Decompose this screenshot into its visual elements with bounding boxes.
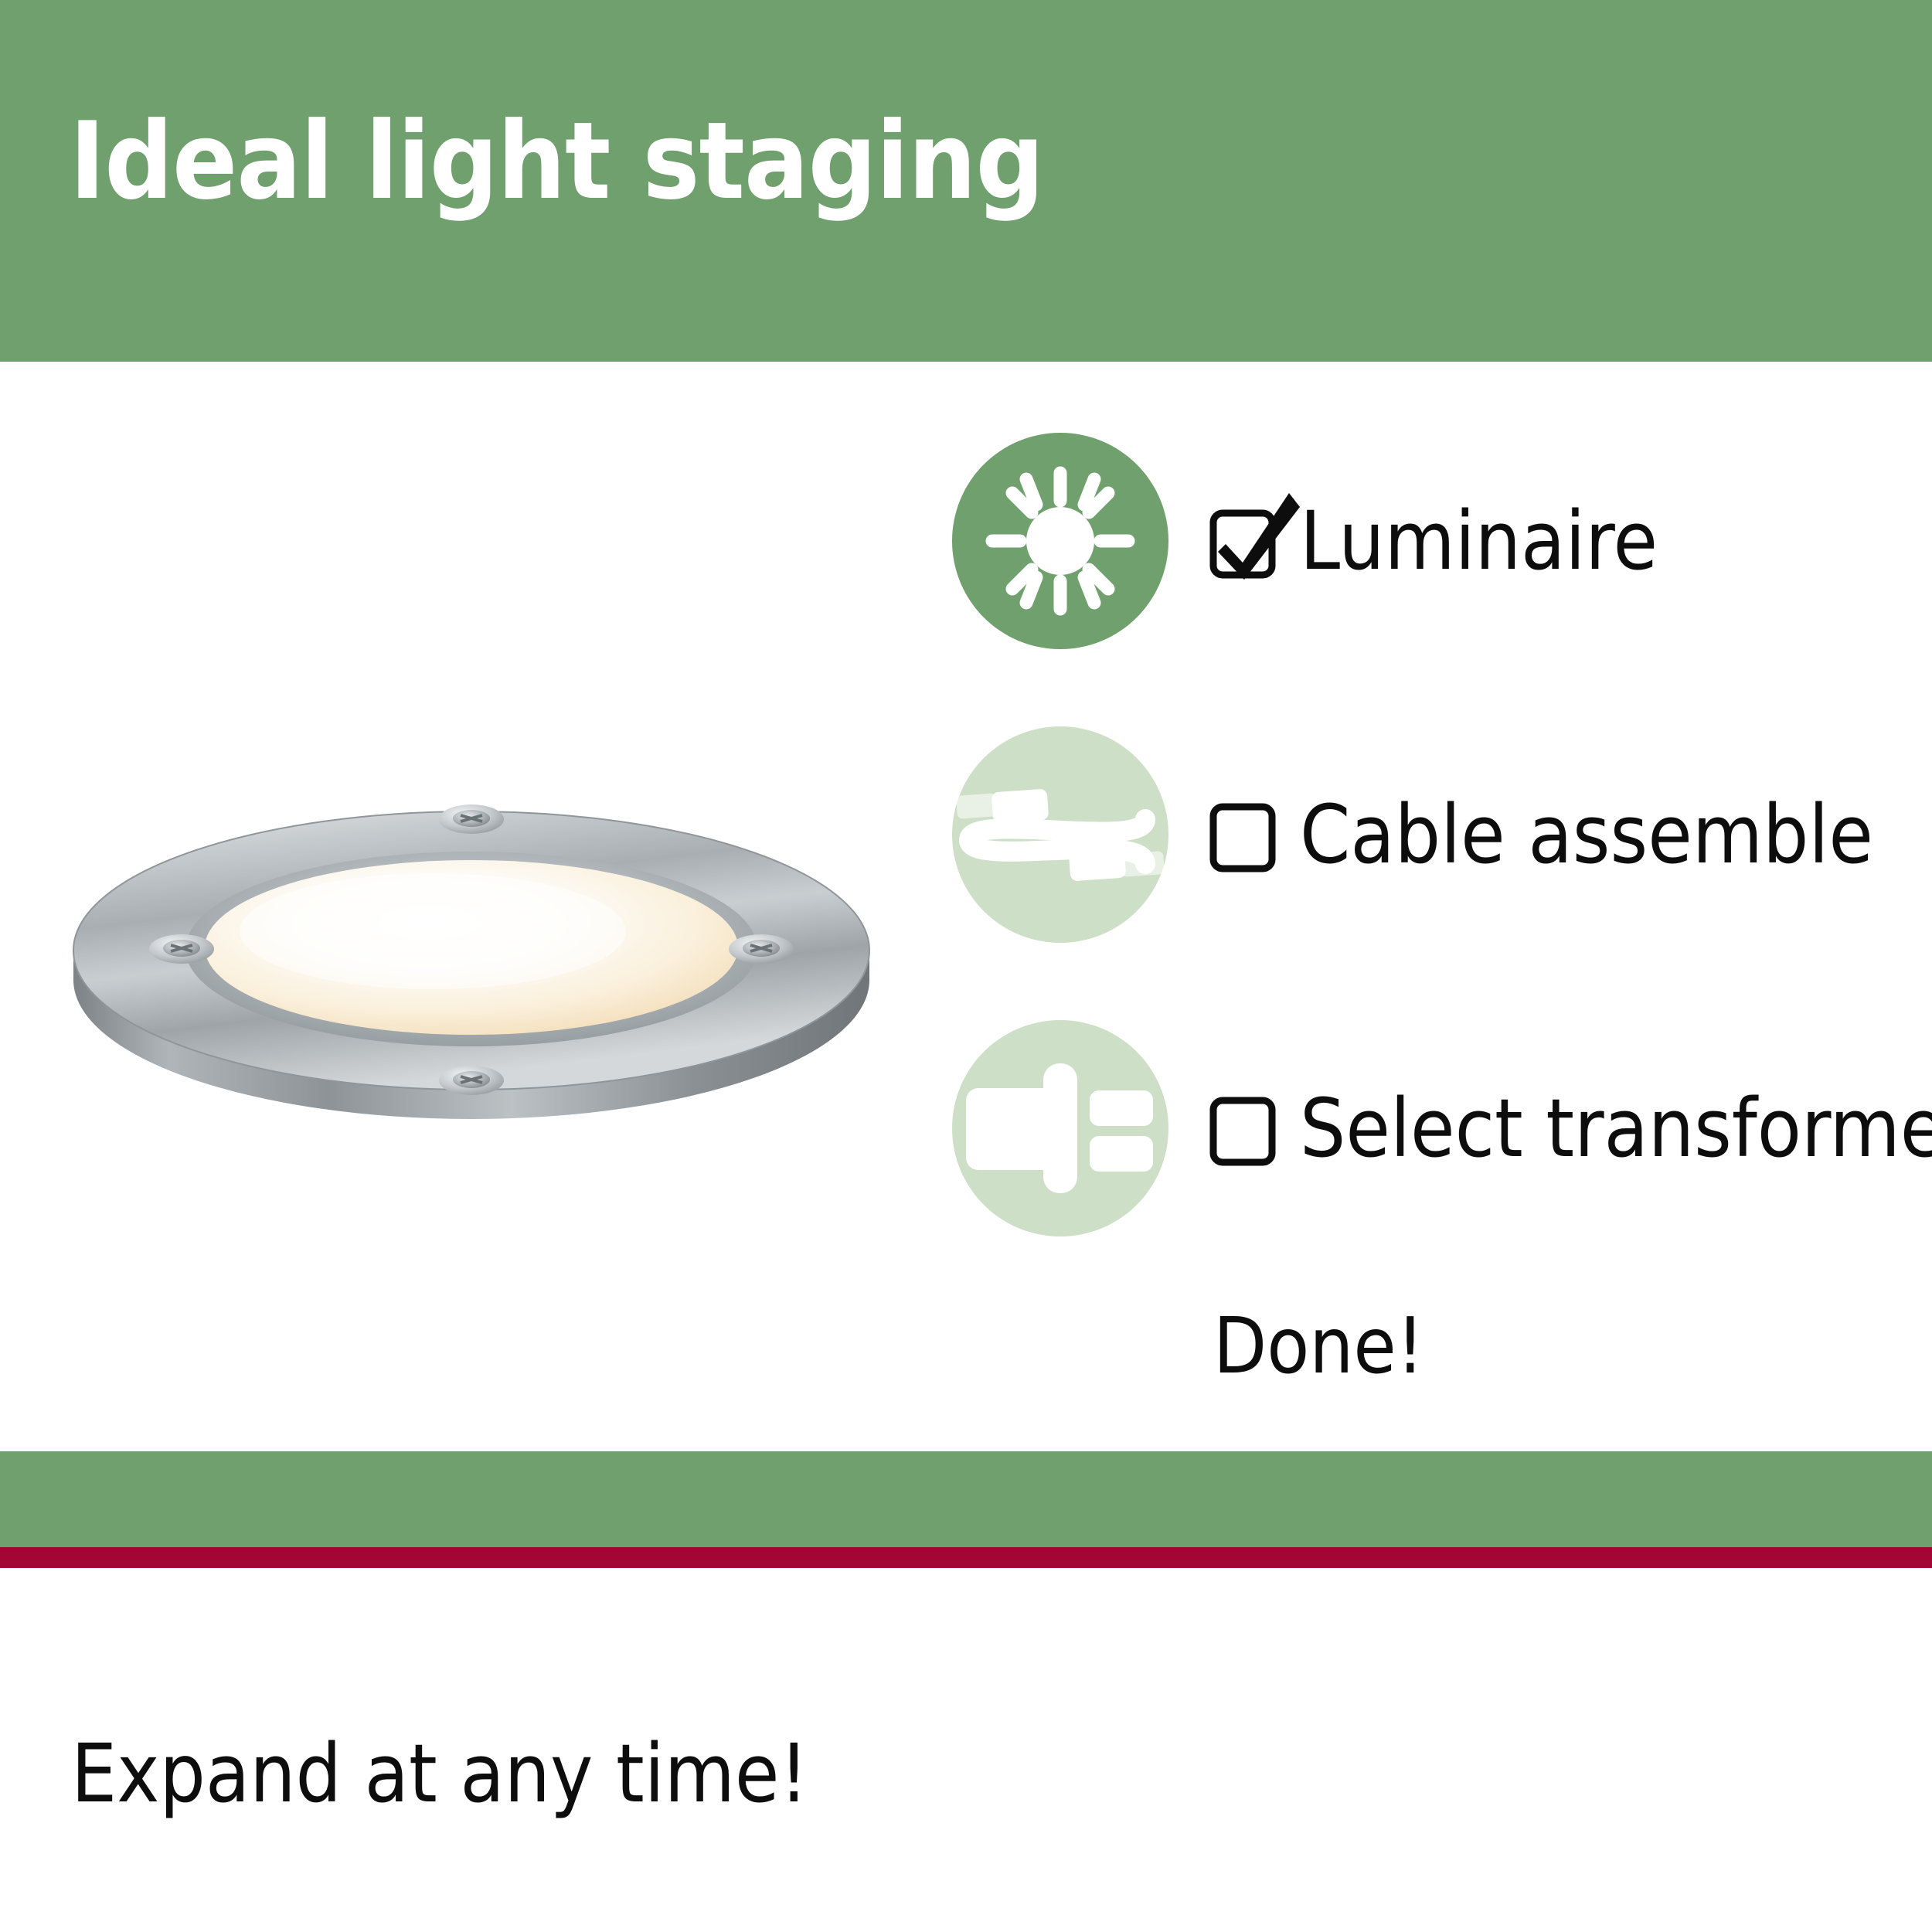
- checklist-item-label: Select transformer: [1300, 1088, 1932, 1168]
- done-label: Done!: [1213, 1308, 1424, 1385]
- checkbox-luminaire[interactable]: [1213, 512, 1269, 570]
- checkbox-checked-icon: [1209, 479, 1309, 580]
- luminaire-diffuser-highlight: [240, 873, 626, 989]
- product-image-recessed-floor-luminaire: [46, 773, 896, 1136]
- luminaire-screw-left: [149, 934, 214, 964]
- checkbox-unchecked-icon: [1209, 1066, 1309, 1167]
- footer-red-band: [0, 1547, 1932, 1568]
- luminaire-screw-top: [439, 804, 504, 834]
- checkbox-cable-assemble[interactable]: [1213, 805, 1269, 864]
- cable-icon-badge: [952, 726, 1168, 943]
- sun-icon-badge: [952, 433, 1168, 649]
- checkbox-unchecked-icon: [1209, 773, 1309, 873]
- checklist: Luminaire Cable assemble: [952, 433, 1926, 1314]
- checkbox-select-transformer[interactable]: [1213, 1099, 1269, 1158]
- checklist-item-label: Cable assemble: [1300, 794, 1873, 875]
- page-title: Ideal light staging: [70, 108, 1043, 215]
- checklist-item-label: Luminaire: [1300, 501, 1658, 581]
- luminaire-screw-right: [729, 934, 794, 964]
- footer-text: Expand at any time!: [71, 1733, 808, 1814]
- checklist-row-cable-assemble[interactable]: Cable assemble: [952, 726, 1926, 1020]
- luminaire-illustration: [46, 773, 896, 1136]
- checklist-row-luminaire[interactable]: Luminaire: [952, 433, 1926, 726]
- checklist-label-cable-assemble[interactable]: Cable assemble: [1213, 773, 1873, 896]
- plug-icon-badge: [952, 1020, 1168, 1236]
- sun-icon: [952, 433, 1168, 649]
- checklist-label-luminaire[interactable]: Luminaire: [1213, 479, 1658, 603]
- checklist-label-select-transformer[interactable]: Select transformer: [1213, 1066, 1932, 1190]
- cable-icon: [952, 726, 1168, 943]
- plug-icon: [952, 1020, 1168, 1236]
- footer-green-band: [0, 1451, 1932, 1547]
- luminaire-screw-bottom: [439, 1066, 504, 1095]
- checklist-row-select-transformer[interactable]: Select transformer: [952, 1020, 1926, 1314]
